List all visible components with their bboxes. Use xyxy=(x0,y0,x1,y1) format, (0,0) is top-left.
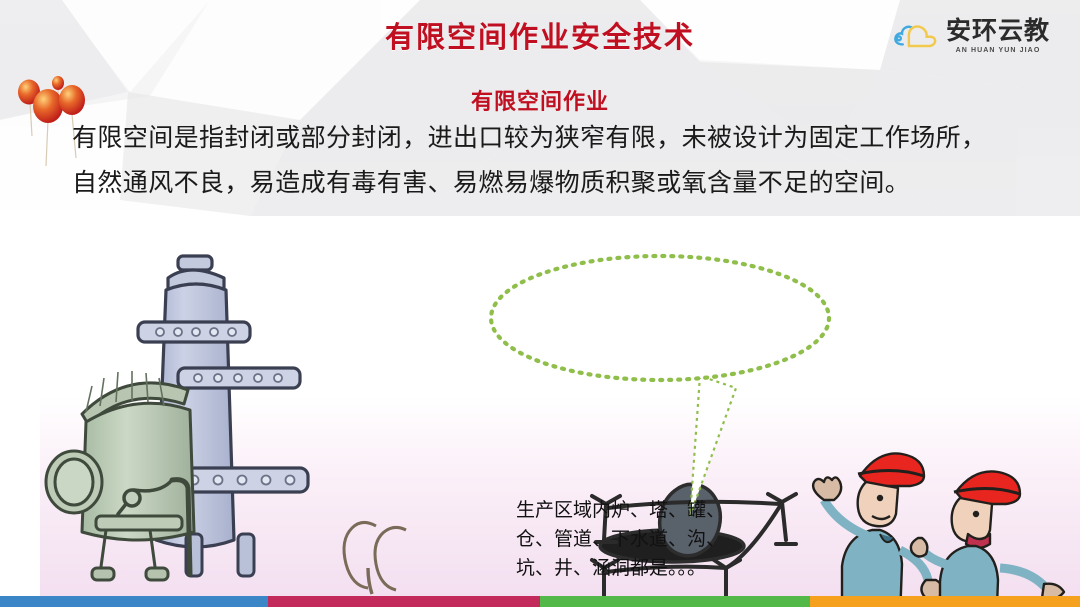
colorbar-segment-green xyxy=(540,596,810,607)
illustration-svg xyxy=(0,216,1080,596)
definition-line-2: 自然通风不良，易造成有毒有害、易燃易爆物质积聚或氧含量不足的空间。 xyxy=(72,161,1024,206)
brand-logo: 安环云教 AN HUAN YUN JIAO xyxy=(892,18,1050,54)
colorbar-segment-blue xyxy=(0,596,268,607)
bottom-color-bar xyxy=(0,596,1080,607)
definition-paragraph: 有限空间是指封闭或部分封闭，进出口较为狭窄有限，未被设计为固定工作场所， 自然通… xyxy=(72,116,1024,206)
confined-space-illustration: 生产区域内炉、塔、罐、 仓、管道、下水道、沟、 坑、井、涵洞都是。。。 xyxy=(0,216,1080,596)
colorbar-segment-crimson xyxy=(268,596,540,607)
slide-canvas: 有限空间作业安全技术 安环云教 AN HUAN YUN JIAO xyxy=(0,0,1080,607)
logo-name-cn: 安环云教 xyxy=(946,19,1050,44)
definition-line-1: 有限空间是指封闭或部分封闭，进出口较为狭窄有限，未被设计为固定工作场所， xyxy=(72,116,1024,161)
logo-text: 安环云教 AN HUAN YUN JIAO xyxy=(946,19,1050,54)
section-subtitle: 有限空间作业 xyxy=(0,84,1080,116)
cloud-logo-icon xyxy=(892,18,938,54)
logo-name-en: AN HUAN YUN JIAO xyxy=(956,47,1041,54)
colorbar-segment-orange xyxy=(810,596,1080,607)
